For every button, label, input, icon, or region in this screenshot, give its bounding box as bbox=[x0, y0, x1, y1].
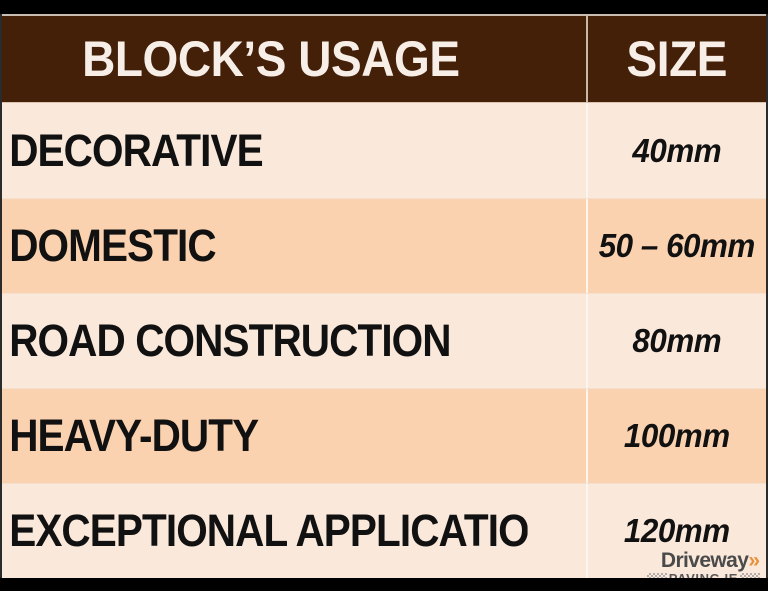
column-divider bbox=[586, 294, 588, 388]
blocks-usage-table: BLOCK’S USAGE SIZE DECORATIVE 40mm DOMES… bbox=[0, 14, 768, 578]
column-header-size: SIZE bbox=[596, 16, 759, 102]
column-header-usage: BLOCK’S USAGE bbox=[2, 16, 540, 102]
column-divider bbox=[586, 484, 588, 578]
table-row: DOMESTIC 50 – 60mm bbox=[2, 198, 766, 293]
cell-size: 100mm bbox=[593, 389, 762, 483]
cell-usage: DOMESTIC bbox=[2, 199, 528, 293]
cell-usage: EXCEPTIONAL APPLICATION bbox=[2, 484, 528, 578]
cell-size: 50 – 60mm bbox=[593, 199, 762, 293]
screenshot-canvas: BLOCK’S USAGE SIZE DECORATIVE 40mm DOMES… bbox=[0, 0, 768, 591]
cell-usage: DECORATIVE bbox=[2, 103, 528, 198]
table-row: HEAVY-DUTY 100mm bbox=[2, 388, 766, 483]
table-row: EXCEPTIONAL APPLICATION 120mm bbox=[2, 483, 766, 578]
cell-usage: ROAD CONSTRUCTION bbox=[2, 294, 528, 388]
column-divider bbox=[586, 103, 588, 198]
cell-size: 40mm bbox=[593, 103, 762, 198]
letterbox-bottom bbox=[0, 578, 768, 591]
column-divider bbox=[586, 199, 588, 293]
cell-usage: HEAVY-DUTY bbox=[2, 389, 528, 483]
table-row: DECORATIVE 40mm bbox=[2, 103, 766, 198]
column-divider bbox=[586, 389, 588, 483]
table-header-row: BLOCK’S USAGE SIZE bbox=[2, 14, 766, 103]
table-row: ROAD CONSTRUCTION 80mm bbox=[2, 293, 766, 388]
column-divider bbox=[586, 16, 588, 102]
cell-size: 120mm bbox=[593, 484, 762, 578]
cell-size: 80mm bbox=[593, 294, 762, 388]
letterbox-top bbox=[0, 0, 768, 14]
